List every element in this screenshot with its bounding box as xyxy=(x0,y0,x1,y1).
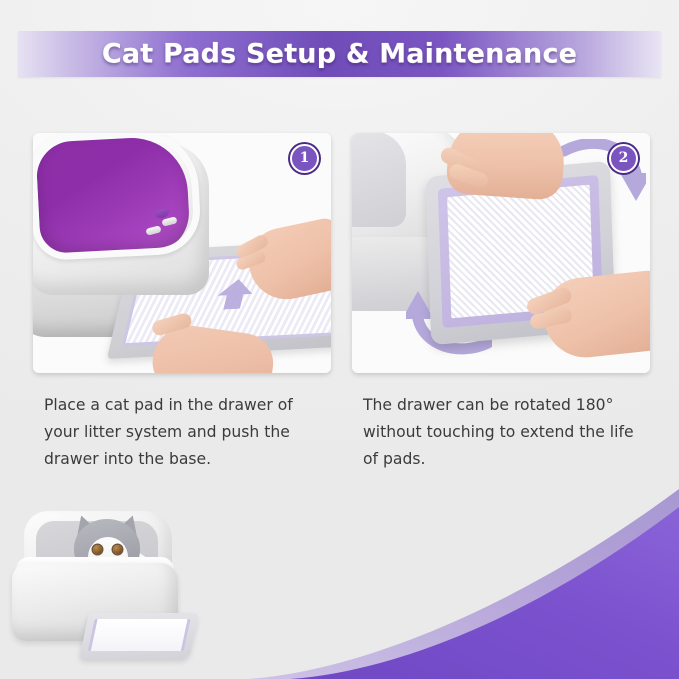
litter-pellets xyxy=(352,163,360,209)
step-2-photo: 2 xyxy=(352,133,650,373)
step-panels: 1 xyxy=(33,133,650,373)
step-badge-2: 2 xyxy=(609,144,638,173)
step-panel-2: 2 xyxy=(352,133,650,373)
hood-rim xyxy=(33,133,202,261)
hero-extended-drawer xyxy=(79,613,199,659)
top-hand xyxy=(445,133,566,201)
step-1-caption: Place a cat pad in the drawer of your li… xyxy=(44,392,327,473)
step-2-caption: The drawer can be rotated 180° without t… xyxy=(363,392,646,473)
page-title: Cat Pads Setup & Maintenance xyxy=(18,39,661,70)
cat-eye-right xyxy=(113,545,122,554)
step-badge-1: 1 xyxy=(290,144,319,173)
step-panel-1: 1 xyxy=(33,133,331,373)
hero-product-photo xyxy=(6,505,221,670)
cat-eye-left xyxy=(93,545,102,554)
step-1-photo: 1 xyxy=(33,133,331,373)
litter-box-interior xyxy=(352,133,406,227)
header-banner: Cat Pads Setup & Maintenance xyxy=(18,31,661,77)
hero-cat-pad xyxy=(88,619,191,651)
